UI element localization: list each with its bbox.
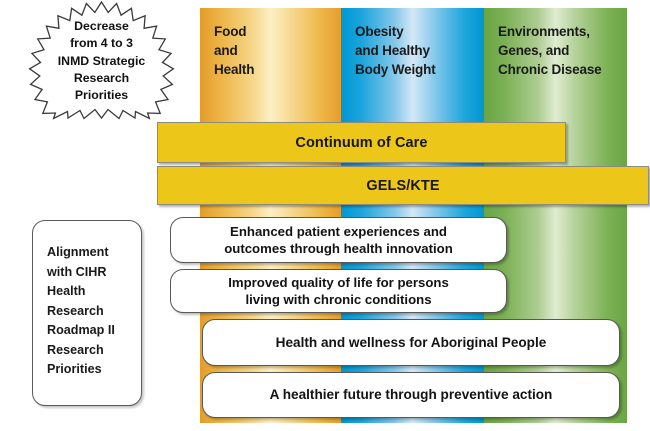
priority-box-1-line-2: outcomes through health innovation <box>224 240 453 257</box>
priority-box-1-text: Enhanced patient experiences and outcome… <box>224 223 453 258</box>
starburst-line-1: Decrease <box>42 18 161 35</box>
priority-box-1-line-1: Enhanced patient experiences and <box>224 223 453 240</box>
starburst-line-4: Research <box>42 70 161 87</box>
alignment-panel-line-7: Priorities <box>47 360 141 380</box>
column-environments-label: Environments, Genes, and Chronic Disease <box>498 22 621 79</box>
bar-continuum-of-care: Continuum of Care <box>157 122 566 163</box>
column-obesity-line-3: Body Weight <box>355 60 478 79</box>
alignment-panel-line-2: with CIHR <box>47 263 141 283</box>
alignment-panel-line-6: Research <box>47 341 141 361</box>
starburst-line-3: INMD Strategic <box>42 53 161 70</box>
priority-box-2-line-1: Improved quality of life for persons <box>228 274 449 291</box>
starburst-line-2: from 4 to 3 <box>42 35 161 52</box>
alignment-panel-line-5: Roadmap II <box>47 321 141 341</box>
alignment-panel-line-3: Health <box>47 282 141 302</box>
priority-box-3-text: Health and wellness for Aboriginal Peopl… <box>276 334 547 352</box>
starburst-badge: Decrease from 4 to 3 INMD Strategic Rese… <box>20 0 183 120</box>
column-obesity-line-1: Obesity <box>355 22 478 41</box>
diagram-canvas: Food and Health Obesity and Healthy Body… <box>0 0 650 431</box>
priority-box-healthier-future-preventive-action: A healthier future through preventive ac… <box>202 372 620 418</box>
column-food-line-3: Health <box>214 60 335 79</box>
alignment-panel-line-4: Research <box>47 302 141 322</box>
starburst-badge-text: Decrease from 4 to 3 INMD Strategic Rese… <box>20 18 183 105</box>
starburst-line-5: Priorities <box>42 87 161 104</box>
bar-gels-kte-label: GELS/KTE <box>366 178 439 194</box>
column-environments-line-1: Environments, <box>498 22 621 41</box>
priority-box-health-and-wellness-aboriginal: Health and wellness for Aboriginal Peopl… <box>202 319 620 366</box>
priority-box-2-text: Improved quality of life for persons liv… <box>228 274 449 309</box>
column-environments-line-3: Chronic Disease <box>498 60 621 79</box>
column-food-line-1: Food <box>214 22 335 41</box>
column-environments-line-2: Genes, and <box>498 41 621 60</box>
column-food-and-health-label: Food and Health <box>214 22 335 79</box>
alignment-panel: Alignment with CIHR Health Research Road… <box>32 220 142 406</box>
bar-continuum-of-care-label: Continuum of Care <box>295 135 427 151</box>
priority-box-enhanced-patient-experiences: Enhanced patient experiences and outcome… <box>170 217 507 263</box>
column-obesity-line-2: and Healthy <box>355 41 478 60</box>
priority-box-2-line-2: living with chronic conditions <box>228 291 449 308</box>
bar-gels-kte: GELS/KTE <box>157 166 649 205</box>
column-obesity-label: Obesity and Healthy Body Weight <box>355 22 478 79</box>
priority-box-4-text: A healthier future through preventive ac… <box>270 386 553 404</box>
alignment-panel-line-1: Alignment <box>47 243 141 263</box>
priority-box-4-line-1: A healthier future through preventive ac… <box>270 386 553 404</box>
priority-box-3-line-1: Health and wellness for Aboriginal Peopl… <box>276 334 547 352</box>
column-food-line-2: and <box>214 41 335 60</box>
priority-box-improved-quality-of-life: Improved quality of life for persons liv… <box>170 269 507 313</box>
